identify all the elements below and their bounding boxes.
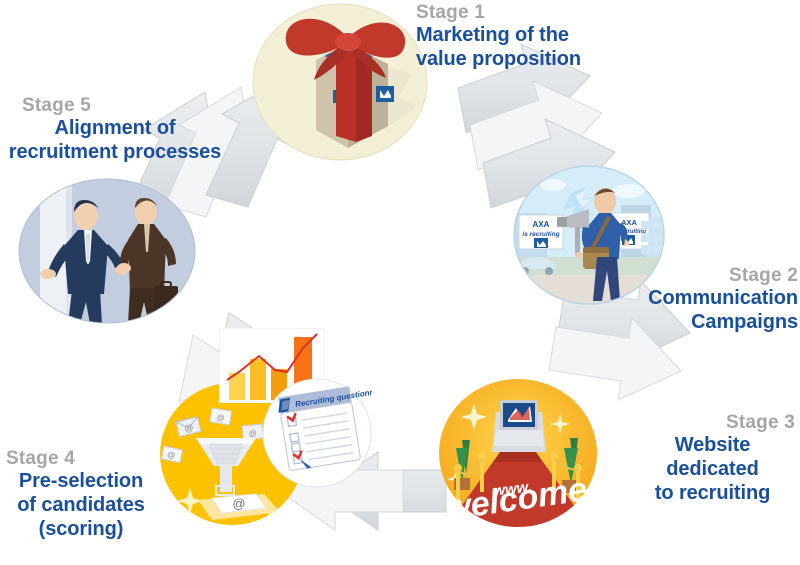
stage-3-title-line2: dedicated [630,458,795,482]
stage-3-number: Stage 3 [630,412,795,434]
stage-1-label: Stage 1 Marketing of the value propositi… [416,2,581,72]
stage-2-title-line1: Communication [648,287,798,311]
stage-5-number: Stage 5 [0,95,230,117]
svg-text:is recruiting: is recruiting [522,231,559,238]
stage-2-number: Stage 2 [648,265,798,287]
stage-2-illustration[interactable]: AXA is recruiting AXA is recruiting [513,165,665,305]
stage-4-title-line2: of candidates [0,494,162,518]
stage-4-number: Stage 4 [0,448,162,470]
man-with-billboards-icon: AXA is recruiting AXA is recruiting [513,165,665,305]
stage-1-title-line2: value proposition [416,48,581,72]
recruiting-questionnaire-icon: Recruiting questionnaire [262,378,372,488]
stage-4-questionnaire[interactable]: Recruiting questionnaire [262,378,372,488]
stage-1-illustration[interactable] [252,2,428,162]
cycle-diagram-canvas: Stage 1 Marketing of the value propositi… [0,0,800,565]
two-businessmen-icon [18,178,196,324]
stage-4-label: Stage 4 Pre-selection of candidates (sco… [0,448,162,541]
stage-2-label: Stage 2 Communication Campaigns [648,265,798,335]
stage-4-title-line1: Pre-selection [0,470,162,494]
stage-3-label: Stage 3 Website dedicated to recruiting [630,412,795,505]
stage-4-title-line3: (scoring) [0,518,162,542]
stage-5-illustration[interactable] [18,178,196,324]
stage-3-title-line3: to recruiting [630,482,795,506]
svg-text:AXA: AXA [533,220,550,229]
stage-5-label: Stage 5 Alignment of recruitment process… [0,95,230,165]
svg-text:@: @ [216,413,225,423]
stage-3-illustration[interactable]: www. welcome [438,378,598,528]
stage-2-title-line2: Campaigns [648,311,798,335]
red-carpet-laptop-icon: www. welcome [438,378,598,528]
stage-1-title-line1: Marketing of the [416,24,581,48]
stage-3-title-line1: Website [630,434,795,458]
svg-text:@: @ [248,429,257,439]
stage-5-title-line1: Alignment of [0,117,230,141]
svg-text:@: @ [232,496,245,511]
gift-wrapped-building-icon [252,2,428,162]
stage-5-title-line2: recruitment processes [0,141,230,165]
stage-1-number: Stage 1 [416,2,581,24]
